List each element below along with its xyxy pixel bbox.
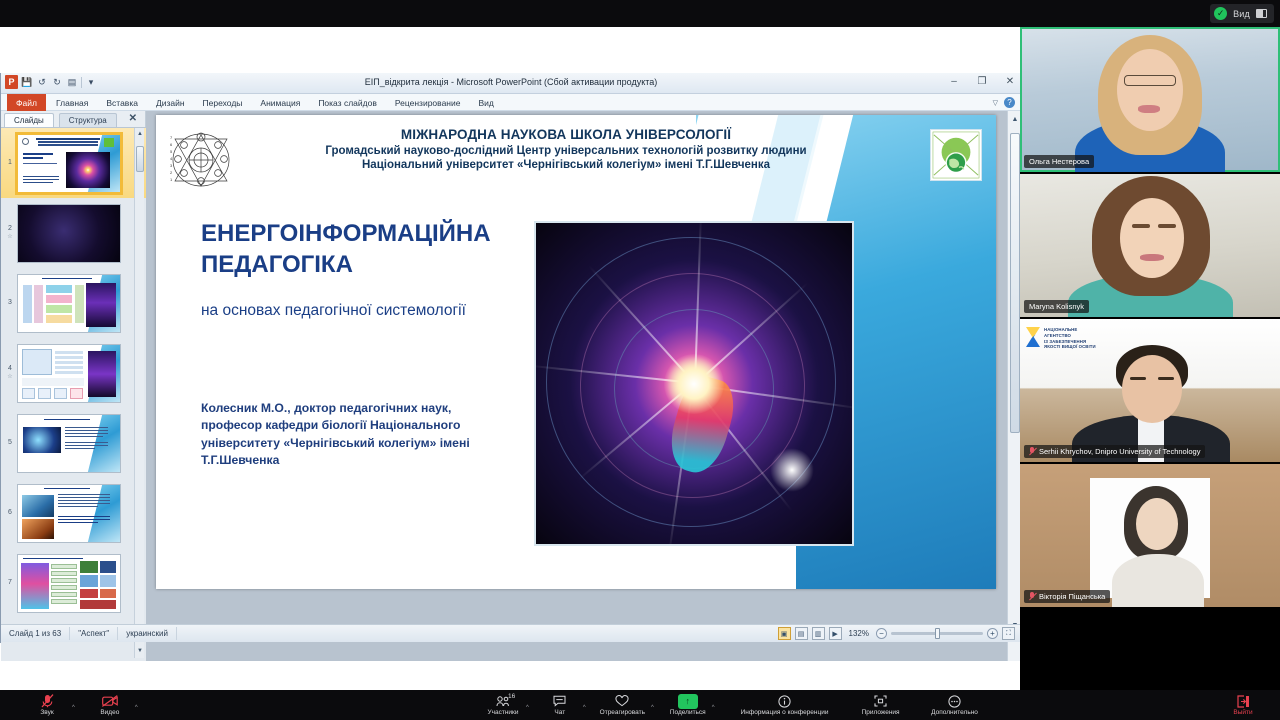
minimize-button[interactable]: – xyxy=(947,76,961,87)
svg-text:5: 5 xyxy=(170,149,173,154)
scroll-up-icon[interactable]: ▲ xyxy=(1010,114,1020,125)
svg-text:3: 3 xyxy=(170,163,173,168)
thumb-number: 2☆ xyxy=(3,225,17,241)
slide-header: МІЖНАРОДНА НАУКОВА ШКОЛА УНІВЕРСОЛОГІЇ Г… xyxy=(256,127,876,171)
slide-header-line-1: МІЖНАРОДНА НАУКОВА ШКОЛА УНІВЕРСОЛОГІЇ xyxy=(256,127,876,142)
green-globe-logo xyxy=(930,129,982,181)
react-caret[interactable]: ^ xyxy=(651,705,654,711)
close-pane-icon[interactable]: ✕ xyxy=(129,113,137,124)
participants-caret[interactable]: ^ xyxy=(526,705,529,711)
slide-counter: Слайд 1 из 63 xyxy=(1,627,70,640)
nazyavo-logo: НАЦІОНАЛЬНЕ АГЕНТСТВО ІЗ ЗАБЕЗПЕЧЕННЯ ЯК… xyxy=(1026,327,1096,350)
ribbon-right-controls[interactable]: ▽ ? xyxy=(993,97,1015,108)
zoom-slider-knob[interactable] xyxy=(935,628,940,639)
author-line-1: Колесник М.О., доктор педагогічних наук, xyxy=(201,400,521,417)
ribbon-tabs: Главная Вставка Дизайн Переходы Анимация… xyxy=(47,94,503,111)
leave-meeting-button[interactable]: Выйти xyxy=(1220,690,1266,720)
thumb-preview[interactable] xyxy=(17,344,121,403)
leave-label: Выйти xyxy=(1233,709,1252,716)
tab-transitions[interactable]: Переходы xyxy=(194,94,252,111)
thumb-number: 1 xyxy=(3,159,17,167)
thumb-preview[interactable] xyxy=(17,134,121,193)
tab-outline[interactable]: Структура xyxy=(59,113,117,127)
thumb-number: 5 xyxy=(3,439,17,447)
video-options-caret[interactable]: ^ xyxy=(135,705,138,711)
tab-animations[interactable]: Анимация xyxy=(251,94,309,111)
participant-name-badge: Ольга Нестерова xyxy=(1024,155,1094,168)
restore-button[interactable]: ❐ xyxy=(975,76,989,87)
logo-line-1: НАЦІОНАЛЬНЕ xyxy=(1044,327,1077,332)
apps-button[interactable]: Приложения xyxy=(853,690,909,720)
apps-label: Приложения xyxy=(862,709,900,716)
zoom-toolbar-right: Выйти xyxy=(1220,690,1266,720)
light-burst xyxy=(664,354,724,414)
svg-text:6: 6 xyxy=(170,142,173,147)
slide-author-block: Колесник М.О., доктор педагогічних наук,… xyxy=(201,400,521,469)
thumb-preview[interactable] xyxy=(17,484,121,543)
thumbnail-item-5[interactable]: 5 xyxy=(1,408,146,478)
zoom-in-button[interactable]: + xyxy=(987,628,998,639)
sorter-view-icon[interactable]: ▤ xyxy=(795,627,808,640)
thumb-number: 3 xyxy=(3,299,17,307)
info-icon xyxy=(778,695,791,708)
participant-tile-2[interactable]: Maryna Kolisnyk xyxy=(1020,172,1280,317)
more-button[interactable]: Дополнительно xyxy=(917,690,993,720)
react-button[interactable]: Отреагировать xyxy=(594,690,651,720)
thumbnail-item-4[interactable]: 4☆ xyxy=(1,338,146,408)
slide-thumbnail-pane: Слайды Структура ✕ 1 xyxy=(1,111,146,661)
participant-tile-4[interactable]: Вікторія Піщанська xyxy=(1020,462,1280,607)
nazyavo-mark-icon xyxy=(1026,327,1040,347)
shield-check-icon: ✓ xyxy=(1214,7,1227,20)
svg-text:1: 1 xyxy=(170,177,173,182)
thumb-preview[interactable] xyxy=(17,414,121,473)
slide-header-line-3: Національний університет «Чернігівський … xyxy=(256,159,876,171)
slide-header-line-2: Громадський науково-дослідний Центр унів… xyxy=(256,145,876,157)
layout-view-icon[interactable] xyxy=(1256,9,1267,18)
theme-name: "Аспект" xyxy=(70,627,118,640)
powerpoint-body: Слайды Структура ✕ 1 xyxy=(1,111,1021,661)
share-label: Поделиться xyxy=(670,709,706,716)
author-line-3: університету «Чернігівський колегіум» ім… xyxy=(201,435,521,452)
share-screen-icon: ↑ xyxy=(678,695,698,708)
author-line-2: професор кафедри біології Національного xyxy=(201,417,521,434)
tab-design[interactable]: Дизайн xyxy=(147,94,194,111)
mic-muted-icon xyxy=(1029,592,1036,601)
participant-name: Maryna Kolisnyk xyxy=(1029,302,1084,311)
participants-label: Участники xyxy=(487,709,518,716)
powerpoint-window: P 💾 ↺ ↻ ▤ ▾ ЕІП_відкрита лекція - Micros… xyxy=(0,73,1020,643)
window-title: ЕІП_відкрита лекція - Microsoft PowerPoi… xyxy=(1,77,1021,87)
leave-icon xyxy=(1236,695,1250,708)
chat-caret[interactable]: ^ xyxy=(583,705,586,711)
tab-review[interactable]: Рецензирование xyxy=(386,94,470,111)
meeting-view-control[interactable]: ✓ Вид xyxy=(1210,4,1274,23)
chat-button[interactable]: Чат xyxy=(537,690,583,720)
logo-line-3: ІЗ ЗАБЕЗПЕЧЕННЯ xyxy=(1044,339,1086,344)
thumbnail-item-6[interactable]: 6 xyxy=(1,478,146,548)
audio-button[interactable]: Звук xyxy=(24,690,70,720)
scroll-down-icon[interactable]: ▼ xyxy=(136,647,144,656)
react-label: Отреагировать xyxy=(600,709,645,716)
zoom-out-button[interactable]: − xyxy=(876,628,887,639)
tab-home[interactable]: Главная xyxy=(47,94,97,111)
thumb-number: 6 xyxy=(3,509,17,517)
scroll-up-icon[interactable]: ▲ xyxy=(136,130,144,139)
slideshow-icon[interactable]: ▶ xyxy=(829,627,842,640)
thumbnail-item-1[interactable]: 1 xyxy=(1,128,146,198)
heart-icon xyxy=(615,695,629,708)
participant-name: Serhii Khrychov, Dnipro University of Te… xyxy=(1039,447,1200,456)
author-line-4: Т.Г.Шевченка xyxy=(201,452,521,469)
collapse-ribbon-icon[interactable]: ▽ xyxy=(993,99,998,107)
slide-title: ЕНЕРГОІНФОРМАЦІЙНА ПЕДАГОГІКА xyxy=(201,219,551,280)
video-button[interactable]: Видео xyxy=(87,690,133,720)
svg-text:4: 4 xyxy=(170,156,173,161)
logo-line-2: АГЕНТСТВО xyxy=(1044,333,1071,338)
zoom-toolbar-left: Звук ^ Видео ^ xyxy=(24,690,138,720)
view-label: Вид xyxy=(1233,9,1250,19)
shared-screen-area: P 💾 ↺ ↻ ▤ ▾ ЕІП_відкрита лекція - Micros… xyxy=(0,27,1020,690)
participant-filmstrip: Ольга Нестерова Maryna Kolisnyk НАЦІОНАЛ… xyxy=(1020,27,1280,690)
thumb-preview[interactable]: Cosmic Eye a video of the universe, zoom… xyxy=(17,204,121,263)
tab-slides[interactable]: Слайды xyxy=(4,113,54,127)
share-screen-button[interactable]: ↑ Поделиться xyxy=(664,690,712,720)
slide-subtitle: на основах педагогічної системології xyxy=(201,301,571,321)
zoom-toolbar: Звук ^ Видео ^ xyxy=(0,690,1280,720)
audio-options-caret[interactable]: ^ xyxy=(72,705,75,711)
fit-slide-icon[interactable]: ⛶ xyxy=(1002,627,1015,640)
powerpoint-status-bar: Слайд 1 из 63 "Аспект" украинский ▣ ▤ ▥ … xyxy=(1,624,1021,642)
mic-muted-icon xyxy=(1029,447,1036,456)
video-label: Видео xyxy=(100,709,119,716)
scrollbar-thumb[interactable] xyxy=(136,146,144,172)
tab-view[interactable]: Вид xyxy=(469,94,502,111)
participants-count: 16 xyxy=(508,693,515,700)
zoom-toolbar-center: 16 Участники ^ Чат ^ xyxy=(480,690,993,720)
reading-view-icon[interactable]: ▥ xyxy=(812,627,825,640)
thumbnail-scrollbar[interactable]: ▲ ▼ xyxy=(134,128,144,658)
share-caret[interactable]: ^ xyxy=(712,705,715,711)
tab-slideshow[interactable]: Показ слайдов xyxy=(309,94,386,111)
thumbnail-item-7[interactable]: 7 xyxy=(1,548,146,618)
participant-tile-1[interactable]: Ольга Нестерова xyxy=(1020,27,1280,172)
participant-tile-3[interactable]: НАЦІОНАЛЬНЕ АГЕНТСТВО ІЗ ЗАБЕЗПЕЧЕННЯ ЯК… xyxy=(1020,317,1280,462)
thumb-pane-tabs: Слайды Структура ✕ xyxy=(1,111,145,127)
meeting-info-button[interactable]: Информация о конференции xyxy=(725,690,845,720)
thumbnail-item-3[interactable]: 3 xyxy=(1,268,146,338)
slide-title-line-1: ЕНЕРГОІНФОРМАЦІЙНА xyxy=(201,219,551,250)
zoom-slider[interactable] xyxy=(891,632,983,635)
secondary-glow xyxy=(770,448,814,492)
participant-name-badge: Вікторія Піщанська xyxy=(1024,590,1110,603)
video-off-icon xyxy=(102,695,118,708)
more-label: Дополнительно xyxy=(931,709,978,716)
slide-pane-scrollbar[interactable]: ▲ ▼ xyxy=(1007,111,1021,661)
slide-title-line-2: ПЕДАГОГІКА xyxy=(201,250,551,281)
participants-button[interactable]: 16 Участники xyxy=(480,690,526,720)
audio-label: Звук xyxy=(40,709,53,716)
thumb-number: 7 xyxy=(3,579,17,587)
zoom-top-bar: ✓ Вид xyxy=(0,0,1280,27)
mic-muted-icon xyxy=(41,695,54,708)
more-icon xyxy=(948,695,961,708)
zoom-level: 132% xyxy=(849,629,869,638)
slide-edit-pane: 765 432 1 xyxy=(146,111,1021,661)
participant-name: Ольга Нестерова xyxy=(1029,157,1089,166)
svg-text:2: 2 xyxy=(170,170,173,175)
nazyavo-logo-text: НАЦІОНАЛЬНЕ АГЕНТСТВО ІЗ ЗАБЕЗПЕЧЕННЯ ЯК… xyxy=(1044,327,1096,350)
thumb-number: 4☆ xyxy=(3,365,17,381)
cosmic-rays-dancer-photo[interactable] xyxy=(534,221,854,546)
zoom-meeting-window: ✓ Вид P 💾 ↺ ↻ ▤ ▾ ЕІП_відкрита лекція - … xyxy=(0,0,1280,720)
info-label: Информация о конференции xyxy=(741,709,829,716)
logo-line-4: ЯКОСТІ ВИЩОЇ ОСВІТИ xyxy=(1044,344,1096,349)
chat-icon xyxy=(553,695,566,708)
tab-insert[interactable]: Вставка xyxy=(97,94,147,111)
chat-label: Чат xyxy=(554,709,565,716)
participant-name: Вікторія Піщанська xyxy=(1039,592,1105,601)
help-icon[interactable]: ? xyxy=(1004,97,1015,108)
participant-name-badge: Maryna Kolisnyk xyxy=(1024,300,1089,313)
close-button[interactable]: ✕ xyxy=(1003,76,1017,87)
ribbon-tab-bar: Файл Главная Вставка Дизайн Переходы Ани… xyxy=(1,94,1021,111)
language-indicator[interactable]: украинский xyxy=(118,627,177,640)
window-controls[interactable]: – ❐ ✕ xyxy=(947,76,1017,87)
powerpoint-title-bar: P 💾 ↺ ↻ ▤ ▾ ЕІП_відкрита лекція - Micros… xyxy=(1,73,1021,94)
universology-diagram-logo: 765 432 1 xyxy=(170,129,232,191)
current-slide[interactable]: 765 432 1 xyxy=(156,115,996,589)
svg-text:7: 7 xyxy=(170,135,173,140)
thumb-preview[interactable] xyxy=(17,554,121,613)
thumbnail-list[interactable]: 1 xyxy=(1,127,146,661)
thumb-preview[interactable] xyxy=(17,274,121,333)
participant-name-badge: Serhii Khrychov, Dnipro University of Te… xyxy=(1024,445,1205,458)
tab-file[interactable]: Файл xyxy=(7,94,46,111)
apps-icon xyxy=(874,695,887,708)
view-and-zoom-controls[interactable]: ▣ ▤ ▥ ▶ 132% − + ⛶ xyxy=(778,627,1015,640)
thumbnail-item-2[interactable]: 2☆ Cosmic Eye a video of the universe, z… xyxy=(1,198,146,268)
scrollbar-thumb[interactable] xyxy=(1010,133,1020,433)
normal-view-icon[interactable]: ▣ xyxy=(778,627,791,640)
